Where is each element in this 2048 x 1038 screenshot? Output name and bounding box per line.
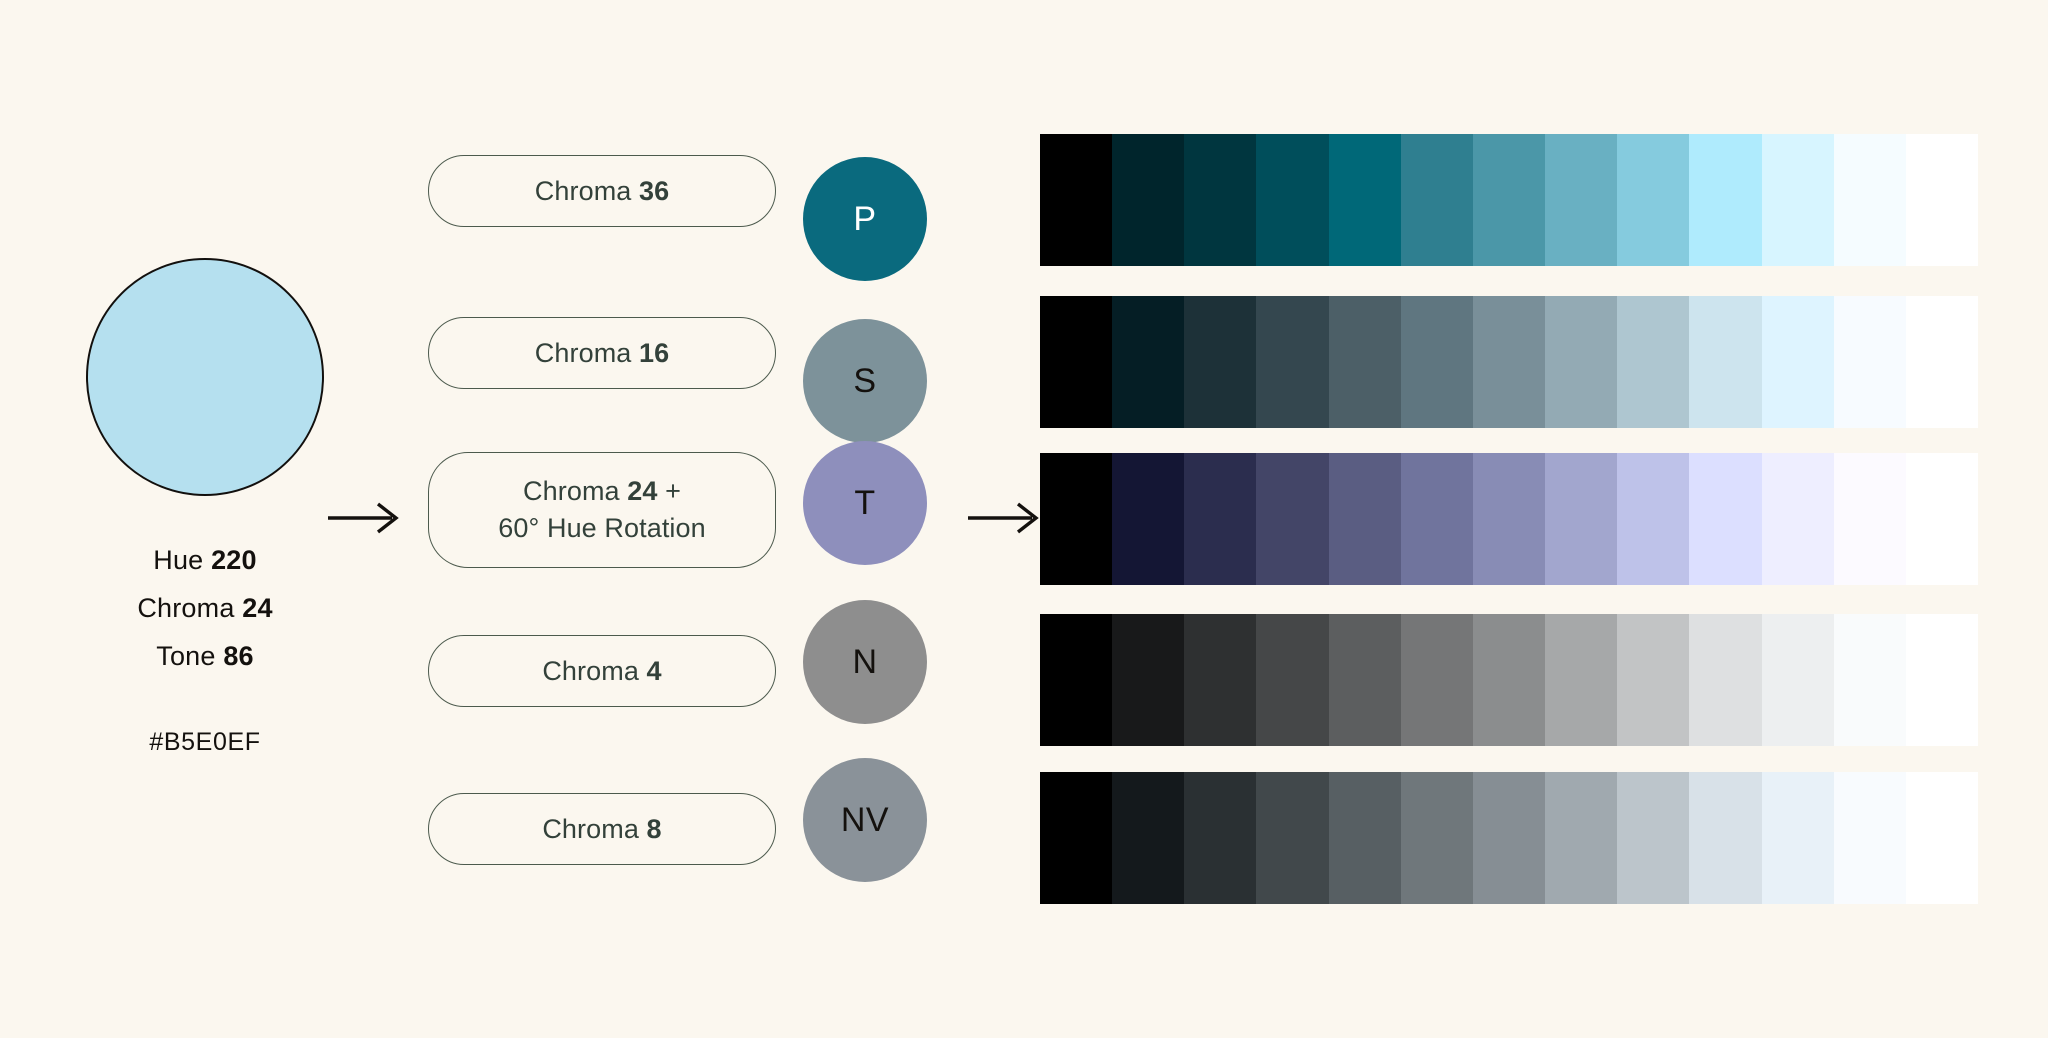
tonal-swatch[interactable] (1329, 614, 1401, 746)
tonal-swatch[interactable] (1184, 134, 1256, 266)
tonal-swatch[interactable] (1401, 134, 1473, 266)
tonal-swatch[interactable] (1473, 134, 1545, 266)
tonal-ramp-neutral (1040, 614, 1978, 746)
tonal-swatch[interactable] (1906, 296, 1978, 428)
role-circle-label: NV (841, 801, 889, 840)
tonal-swatch[interactable] (1906, 614, 1978, 746)
role-circle-primary[interactable]: P (803, 157, 927, 281)
tonal-swatch[interactable] (1689, 296, 1761, 428)
tonal-ramp-secondary (1040, 296, 1978, 428)
tonal-swatch[interactable] (1256, 134, 1328, 266)
tonal-swatch[interactable] (1184, 614, 1256, 746)
chroma-pill-primary[interactable]: Chroma 36 (428, 155, 776, 227)
palette-row-tertiary: Chroma 24 +60° Hue RotationT (0, 453, 2048, 585)
tonal-swatch[interactable] (1545, 772, 1617, 904)
role-circle-secondary[interactable]: S (803, 319, 927, 443)
tonal-swatch[interactable] (1256, 772, 1328, 904)
tonal-swatch[interactable] (1112, 134, 1184, 266)
tonal-swatch[interactable] (1473, 772, 1545, 904)
tonal-swatch[interactable] (1762, 453, 1834, 585)
tonal-swatch[interactable] (1762, 614, 1834, 746)
tonal-swatch[interactable] (1617, 614, 1689, 746)
tonal-swatch[interactable] (1545, 614, 1617, 746)
tonal-swatch[interactable] (1401, 296, 1473, 428)
tonal-swatch[interactable] (1834, 296, 1906, 428)
tonal-swatch[interactable] (1112, 453, 1184, 585)
tonal-swatch[interactable] (1329, 134, 1401, 266)
tonal-swatch[interactable] (1329, 453, 1401, 585)
tonal-ramp-primary (1040, 134, 1978, 266)
tonal-swatch[interactable] (1906, 772, 1978, 904)
role-circle-tertiary[interactable]: T (803, 441, 927, 565)
palette-row-primary: Chroma 36P (0, 134, 2048, 266)
chroma-pill-label: Chroma 8 (542, 811, 661, 848)
tonal-swatch[interactable] (1762, 134, 1834, 266)
tonal-swatch[interactable] (1617, 134, 1689, 266)
palette-rows: Chroma 36PChroma 16SChroma 24 +60° Hue R… (0, 0, 2048, 1038)
role-circle-neutral[interactable]: N (803, 600, 927, 724)
tonal-swatch[interactable] (1329, 772, 1401, 904)
role-circle-neutral-variant[interactable]: NV (803, 758, 927, 882)
tonal-swatch[interactable] (1401, 772, 1473, 904)
chroma-pill-secondary[interactable]: Chroma 16 (428, 317, 776, 389)
tonal-swatch[interactable] (1545, 453, 1617, 585)
tonal-swatch[interactable] (1545, 296, 1617, 428)
tonal-swatch[interactable] (1906, 453, 1978, 585)
chroma-pill-neutral-variant[interactable]: Chroma 8 (428, 793, 776, 865)
tonal-swatch[interactable] (1834, 134, 1906, 266)
tonal-swatch[interactable] (1689, 772, 1761, 904)
tonal-swatch[interactable] (1184, 296, 1256, 428)
palette-generation-diagram: Hue 220 Chroma 24 Tone 86 #B5E0EF Chroma (0, 0, 2048, 1038)
tonal-swatch[interactable] (1689, 453, 1761, 585)
tonal-swatch[interactable] (1112, 296, 1184, 428)
tonal-ramp-neutral-variant (1040, 772, 1978, 904)
chroma-pill-label: Chroma 24 +60° Hue Rotation (498, 473, 706, 547)
palette-row-neutral-variant: Chroma 8NV (0, 772, 2048, 904)
tonal-swatch[interactable] (1473, 296, 1545, 428)
chroma-pill-tertiary[interactable]: Chroma 24 +60° Hue Rotation (428, 452, 776, 568)
tonal-swatch[interactable] (1473, 614, 1545, 746)
tonal-ramp-tertiary (1040, 453, 1978, 585)
tonal-swatch[interactable] (1256, 453, 1328, 585)
role-circle-label: N (852, 643, 877, 682)
tonal-swatch[interactable] (1184, 772, 1256, 904)
tonal-swatch[interactable] (1112, 772, 1184, 904)
tonal-swatch[interactable] (1040, 614, 1112, 746)
chroma-pill-label: Chroma 16 (535, 335, 669, 372)
tonal-swatch[interactable] (1040, 296, 1112, 428)
chroma-pill-neutral[interactable]: Chroma 4 (428, 635, 776, 707)
tonal-swatch[interactable] (1762, 772, 1834, 904)
tonal-swatch[interactable] (1040, 453, 1112, 585)
tonal-swatch[interactable] (1473, 453, 1545, 585)
role-circle-label: T (854, 484, 875, 523)
tonal-swatch[interactable] (1689, 134, 1761, 266)
tonal-swatch[interactable] (1545, 134, 1617, 266)
chroma-pill-label: Chroma 36 (535, 173, 669, 210)
tonal-swatch[interactable] (1401, 453, 1473, 585)
tonal-swatch[interactable] (1834, 772, 1906, 904)
tonal-swatch[interactable] (1040, 134, 1112, 266)
tonal-swatch[interactable] (1617, 772, 1689, 904)
tonal-swatch[interactable] (1689, 614, 1761, 746)
palette-row-neutral: Chroma 4N (0, 614, 2048, 746)
tonal-swatch[interactable] (1906, 134, 1978, 266)
palette-row-secondary: Chroma 16S (0, 296, 2048, 428)
tonal-swatch[interactable] (1329, 296, 1401, 428)
tonal-swatch[interactable] (1256, 296, 1328, 428)
role-circle-label: P (853, 200, 876, 239)
role-circle-label: S (853, 362, 876, 401)
chroma-pill-label: Chroma 4 (542, 653, 661, 690)
tonal-swatch[interactable] (1617, 296, 1689, 428)
tonal-swatch[interactable] (1401, 614, 1473, 746)
tonal-swatch[interactable] (1762, 296, 1834, 428)
tonal-swatch[interactable] (1834, 614, 1906, 746)
tonal-swatch[interactable] (1256, 614, 1328, 746)
tonal-swatch[interactable] (1040, 772, 1112, 904)
tonal-swatch[interactable] (1184, 453, 1256, 585)
tonal-swatch[interactable] (1617, 453, 1689, 585)
tonal-swatch[interactable] (1112, 614, 1184, 746)
tonal-swatch[interactable] (1834, 453, 1906, 585)
